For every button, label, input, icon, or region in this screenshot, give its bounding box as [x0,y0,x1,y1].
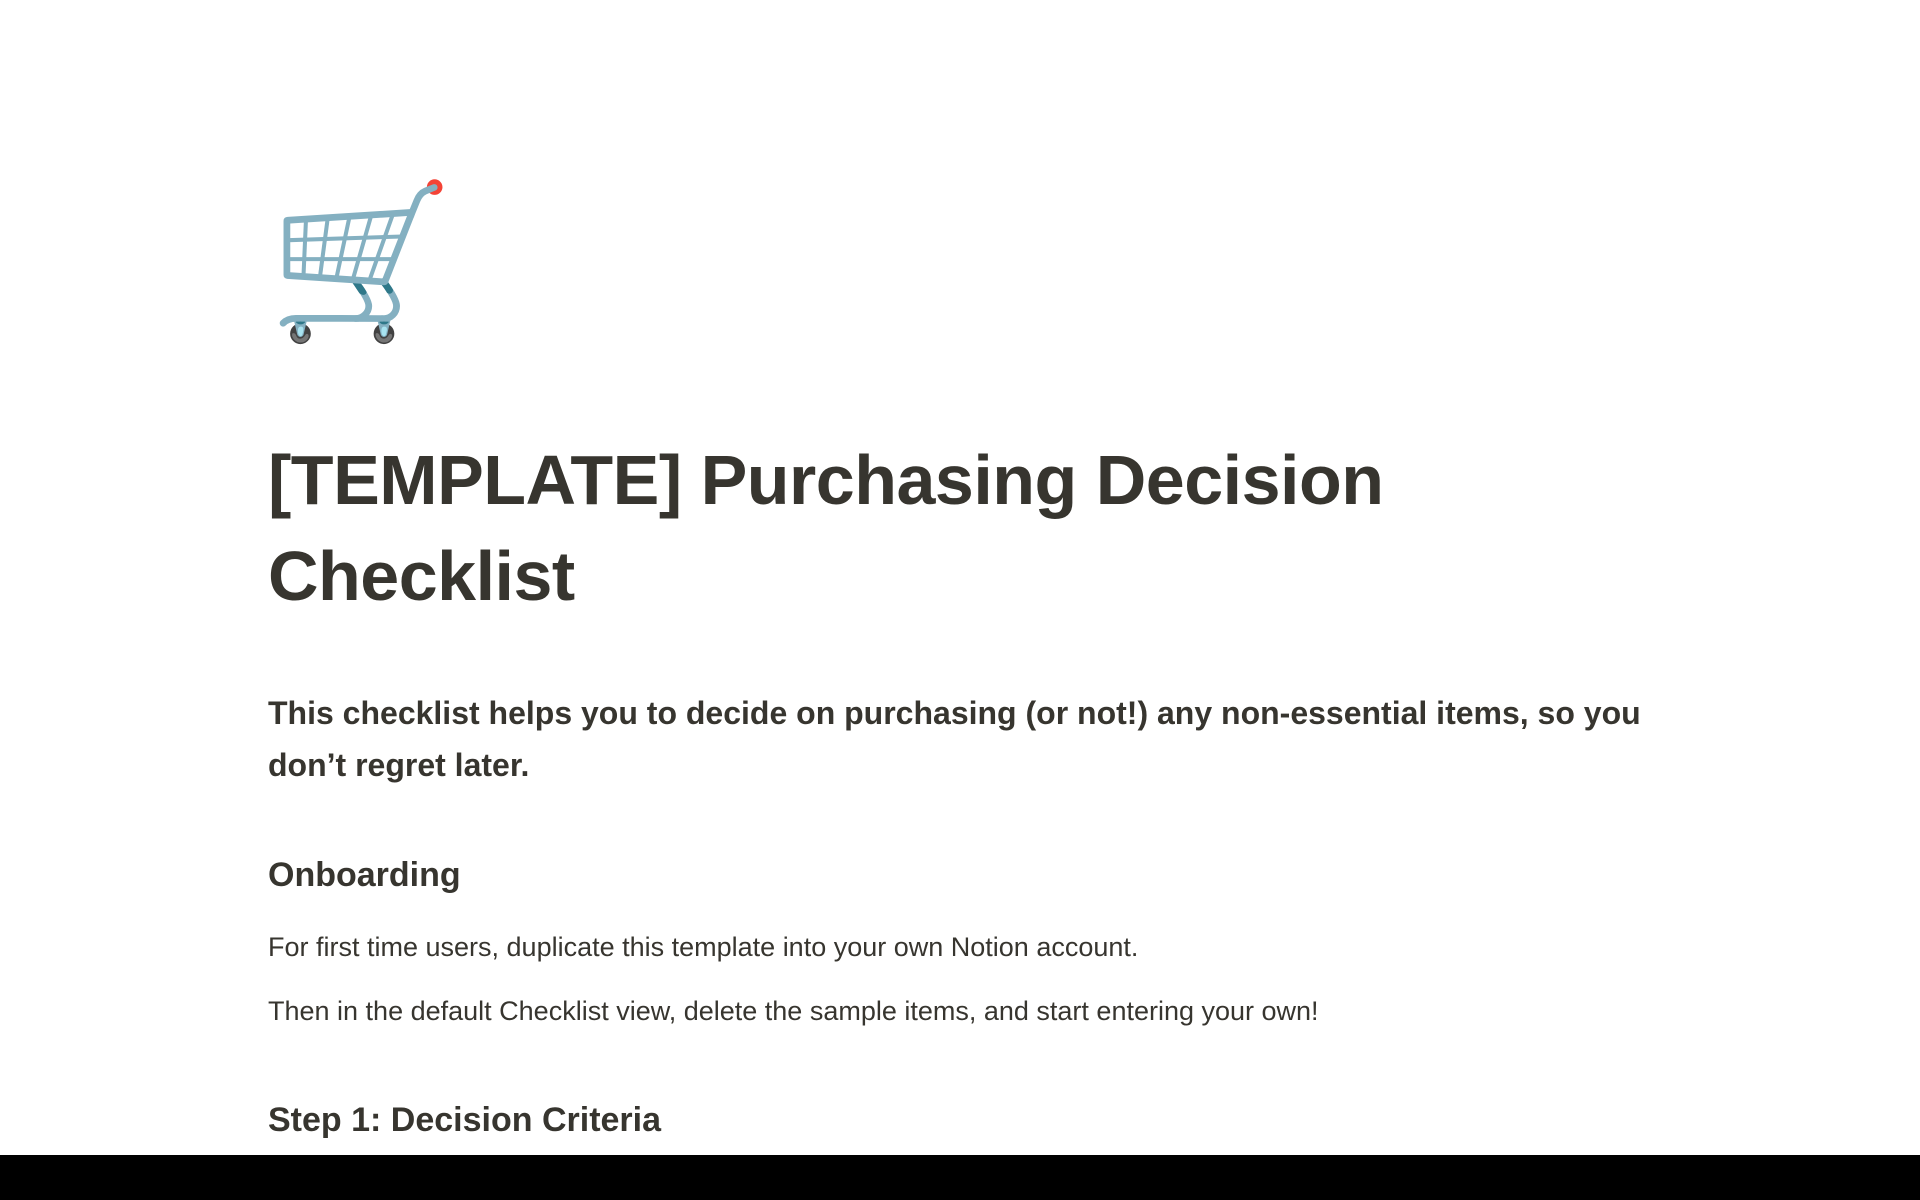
shopping-cart-emoji-icon[interactable]: 🛒 [268,176,438,346]
page-intro-paragraph[interactable]: This checklist helps you to decide on pu… [268,687,1668,791]
viewport-bottom-bar [0,1155,1920,1200]
section-heading-step-1[interactable]: Step 1: Decision Criteria [268,1098,1668,1142]
notion-page: 🛒 [TEMPLATE] Purchasing Decision Checkli… [0,0,1920,1200]
page-title[interactable]: [TEMPLATE] Purchasing Decision Checklist [268,432,1668,624]
onboarding-paragraph-1[interactable]: For first time users, duplicate this tem… [268,928,1668,966]
section-heading-onboarding[interactable]: Onboarding [268,853,1668,897]
onboarding-paragraph-2[interactable]: Then in the default Checklist view, dele… [268,992,1668,1030]
